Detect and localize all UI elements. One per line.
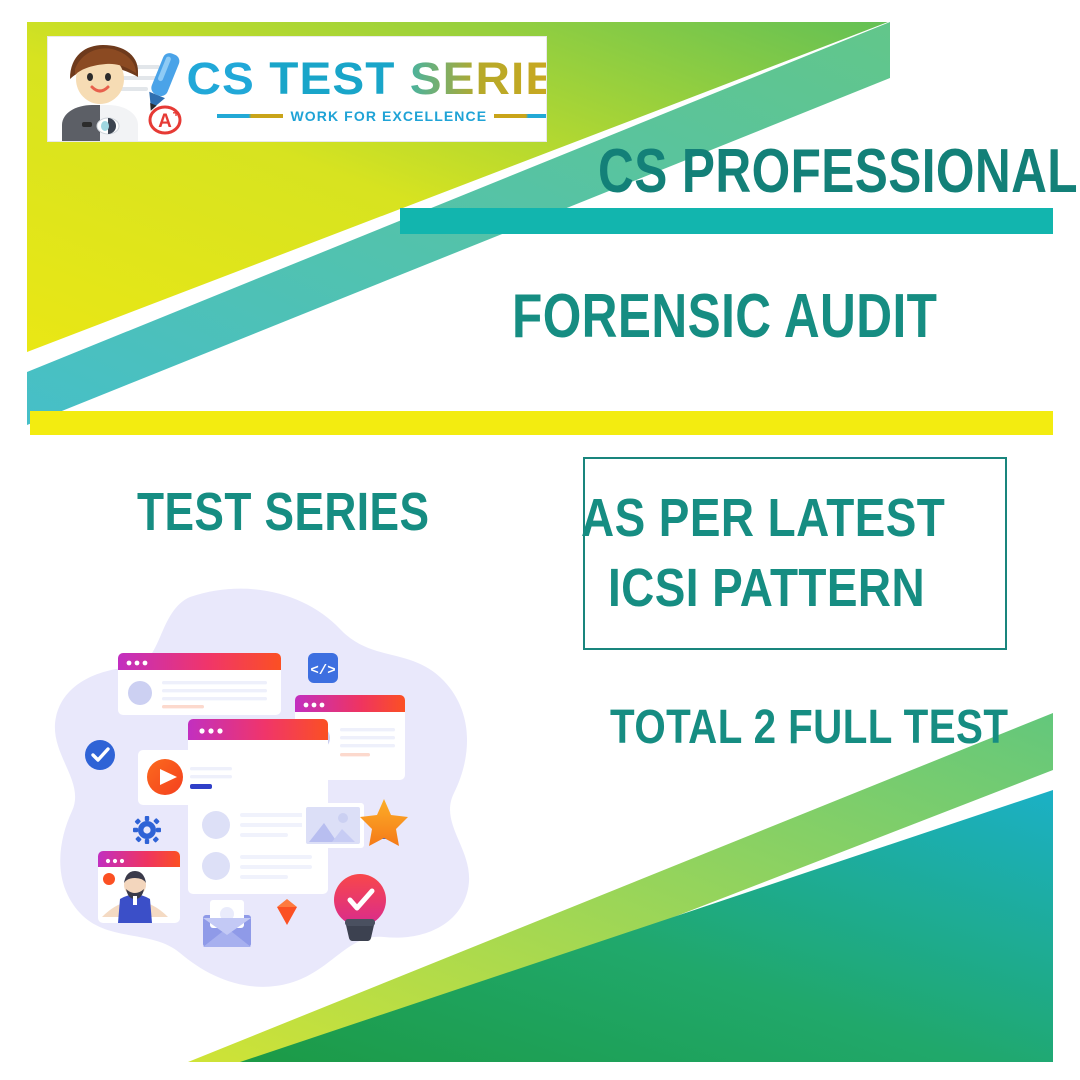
logo-title-test: TEST xyxy=(269,53,395,104)
card-person xyxy=(98,851,180,923)
logo-tagline-row: WORK FOR EXCELLENCE xyxy=(217,108,547,124)
tagline-rule-right xyxy=(494,114,547,118)
pattern-line-2: ICSI PATTERN xyxy=(608,561,925,616)
pattern-callout-box: AS PER LATEST ICSI PATTERN xyxy=(583,457,1007,650)
pattern-line-1: AS PER LATEST xyxy=(581,491,945,546)
poster-root: A + CS TEST SERIES WORK FOR EXCELLENCE C… xyxy=(0,0,1080,1080)
card-profile-top xyxy=(118,653,281,715)
logo-banner: A + CS TEST SERIES WORK FOR EXCELLENCE xyxy=(47,36,547,142)
svg-text:+: + xyxy=(172,106,179,120)
logo-text-block: CS TEST SERIES WORK FOR EXCELLENCE xyxy=(198,37,547,141)
course-level-heading: CS PROFESSIONAL xyxy=(598,136,1078,207)
ui-cards-illustration: </> xyxy=(40,585,510,1000)
image-placeholder-icon xyxy=(302,803,364,848)
logo-title-series: SERIES xyxy=(410,53,547,104)
teal-divider-bar xyxy=(400,208,1053,234)
total-tests-text: TOTAL 2 FULL TEST xyxy=(610,700,1008,755)
card-video xyxy=(138,750,234,805)
logo-tagline: WORK FOR EXCELLENCE xyxy=(290,108,487,124)
yellow-divider-bar xyxy=(30,411,1053,435)
logo-illustration: A + xyxy=(48,37,198,141)
subject-heading: FORENSIC AUDIT xyxy=(512,281,937,352)
svg-text:</>: </> xyxy=(310,663,335,679)
tagline-rule-left xyxy=(217,114,283,118)
product-heading: TEST SERIES xyxy=(137,481,429,543)
envelope-icon xyxy=(203,900,251,947)
play-button-icon xyxy=(147,759,183,795)
logo-title-cs: CS xyxy=(187,53,255,104)
check-badge-icon xyxy=(85,740,115,770)
gear-icon xyxy=(133,816,161,844)
logo-title: CS TEST SERIES xyxy=(187,56,547,101)
code-icon: </> xyxy=(308,653,338,683)
svg-text:A: A xyxy=(158,111,172,132)
